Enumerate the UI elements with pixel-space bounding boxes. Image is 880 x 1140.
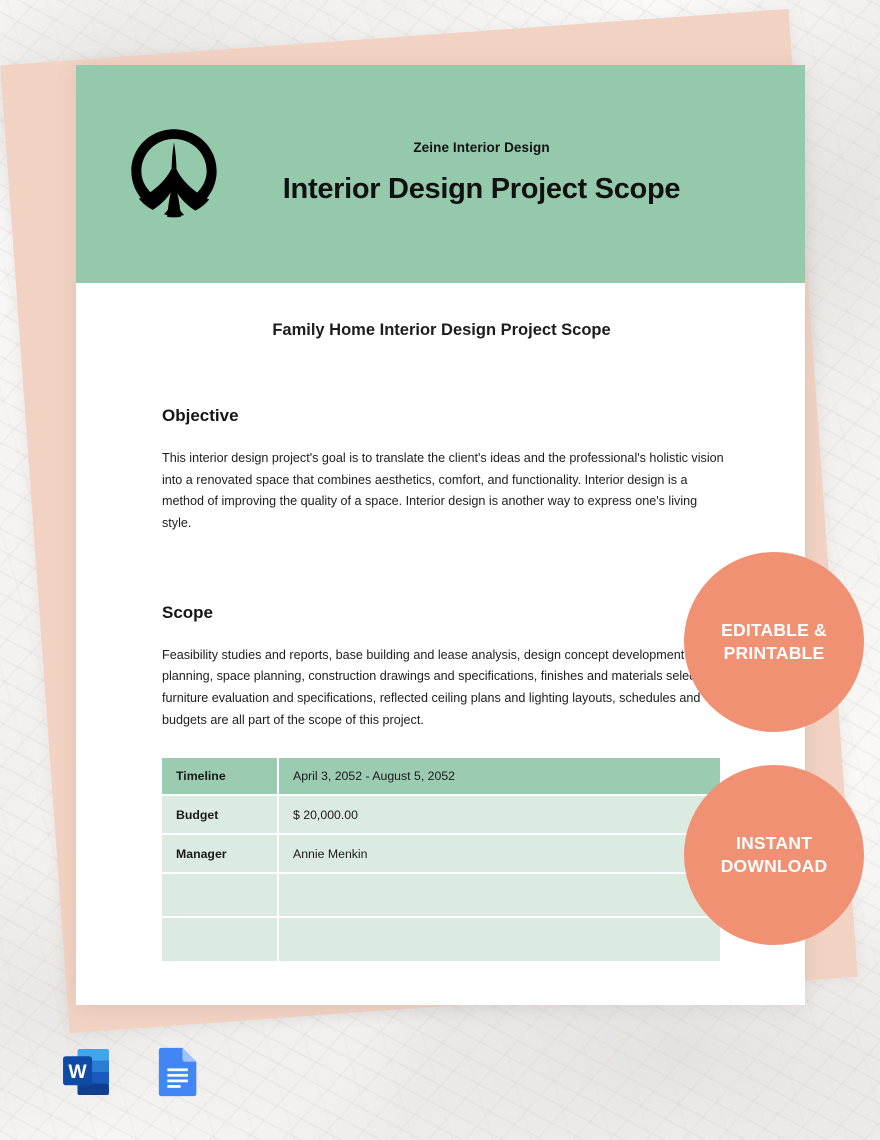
subject-title: Family Home Interior Design Project Scop…: [140, 319, 743, 340]
badge-instant-download: INSTANT DOWNLOAD: [684, 765, 864, 945]
project-details-table: Timeline April 3, 2052 - August 5, 2052 …: [162, 758, 720, 961]
table-row: Timeline April 3, 2052 - August 5, 2052: [162, 758, 720, 795]
table-cell-empty: [162, 873, 278, 917]
table-cell-value: Annie Menkin: [278, 834, 720, 873]
table-cell-label: Manager: [162, 834, 278, 873]
table-row: Manager Annie Menkin: [162, 834, 720, 873]
section-body-objective: This interior design project's goal is t…: [162, 448, 727, 535]
badge-editable-printable: EDITABLE & PRINTABLE: [684, 552, 864, 732]
microsoft-word-icon[interactable]: W: [57, 1043, 115, 1101]
table-cell-value: $ 20,000.00: [278, 795, 720, 834]
table-cell-empty: [162, 917, 278, 961]
table-cell-empty: [278, 873, 720, 917]
table-cell-label: Timeline: [162, 758, 278, 795]
table-cell-value: April 3, 2052 - August 5, 2052: [278, 758, 720, 795]
section-heading-scope: Scope: [162, 603, 743, 623]
section-heading-objective: Objective: [162, 406, 743, 426]
table-cell-label: Budget: [162, 795, 278, 834]
table-cell-empty: [278, 917, 720, 961]
google-docs-icon[interactable]: [148, 1043, 206, 1101]
file-format-icons: W: [57, 1043, 206, 1101]
document-header: Zeine Interior Design Interior Design Pr…: [76, 65, 805, 283]
badge-line-2: PRINTABLE: [724, 643, 825, 663]
table-row-empty: [162, 917, 720, 961]
badge-line-1: EDITABLE &: [721, 620, 827, 640]
document-title: Interior Design Project Scope: [226, 171, 737, 208]
brand-name: Zeine Interior Design: [226, 140, 737, 155]
brand-logo: [122, 122, 226, 226]
table-row: Budget $ 20,000.00: [162, 795, 720, 834]
section-body-scope: Feasibility studies and reports, base bu…: [162, 645, 727, 732]
badge-line-1: INSTANT: [736, 833, 812, 853]
tree-logo-icon: [122, 122, 226, 226]
badge-line-2: DOWNLOAD: [721, 856, 828, 876]
svg-text:W: W: [68, 1062, 87, 1083]
table-row-empty: [162, 873, 720, 917]
